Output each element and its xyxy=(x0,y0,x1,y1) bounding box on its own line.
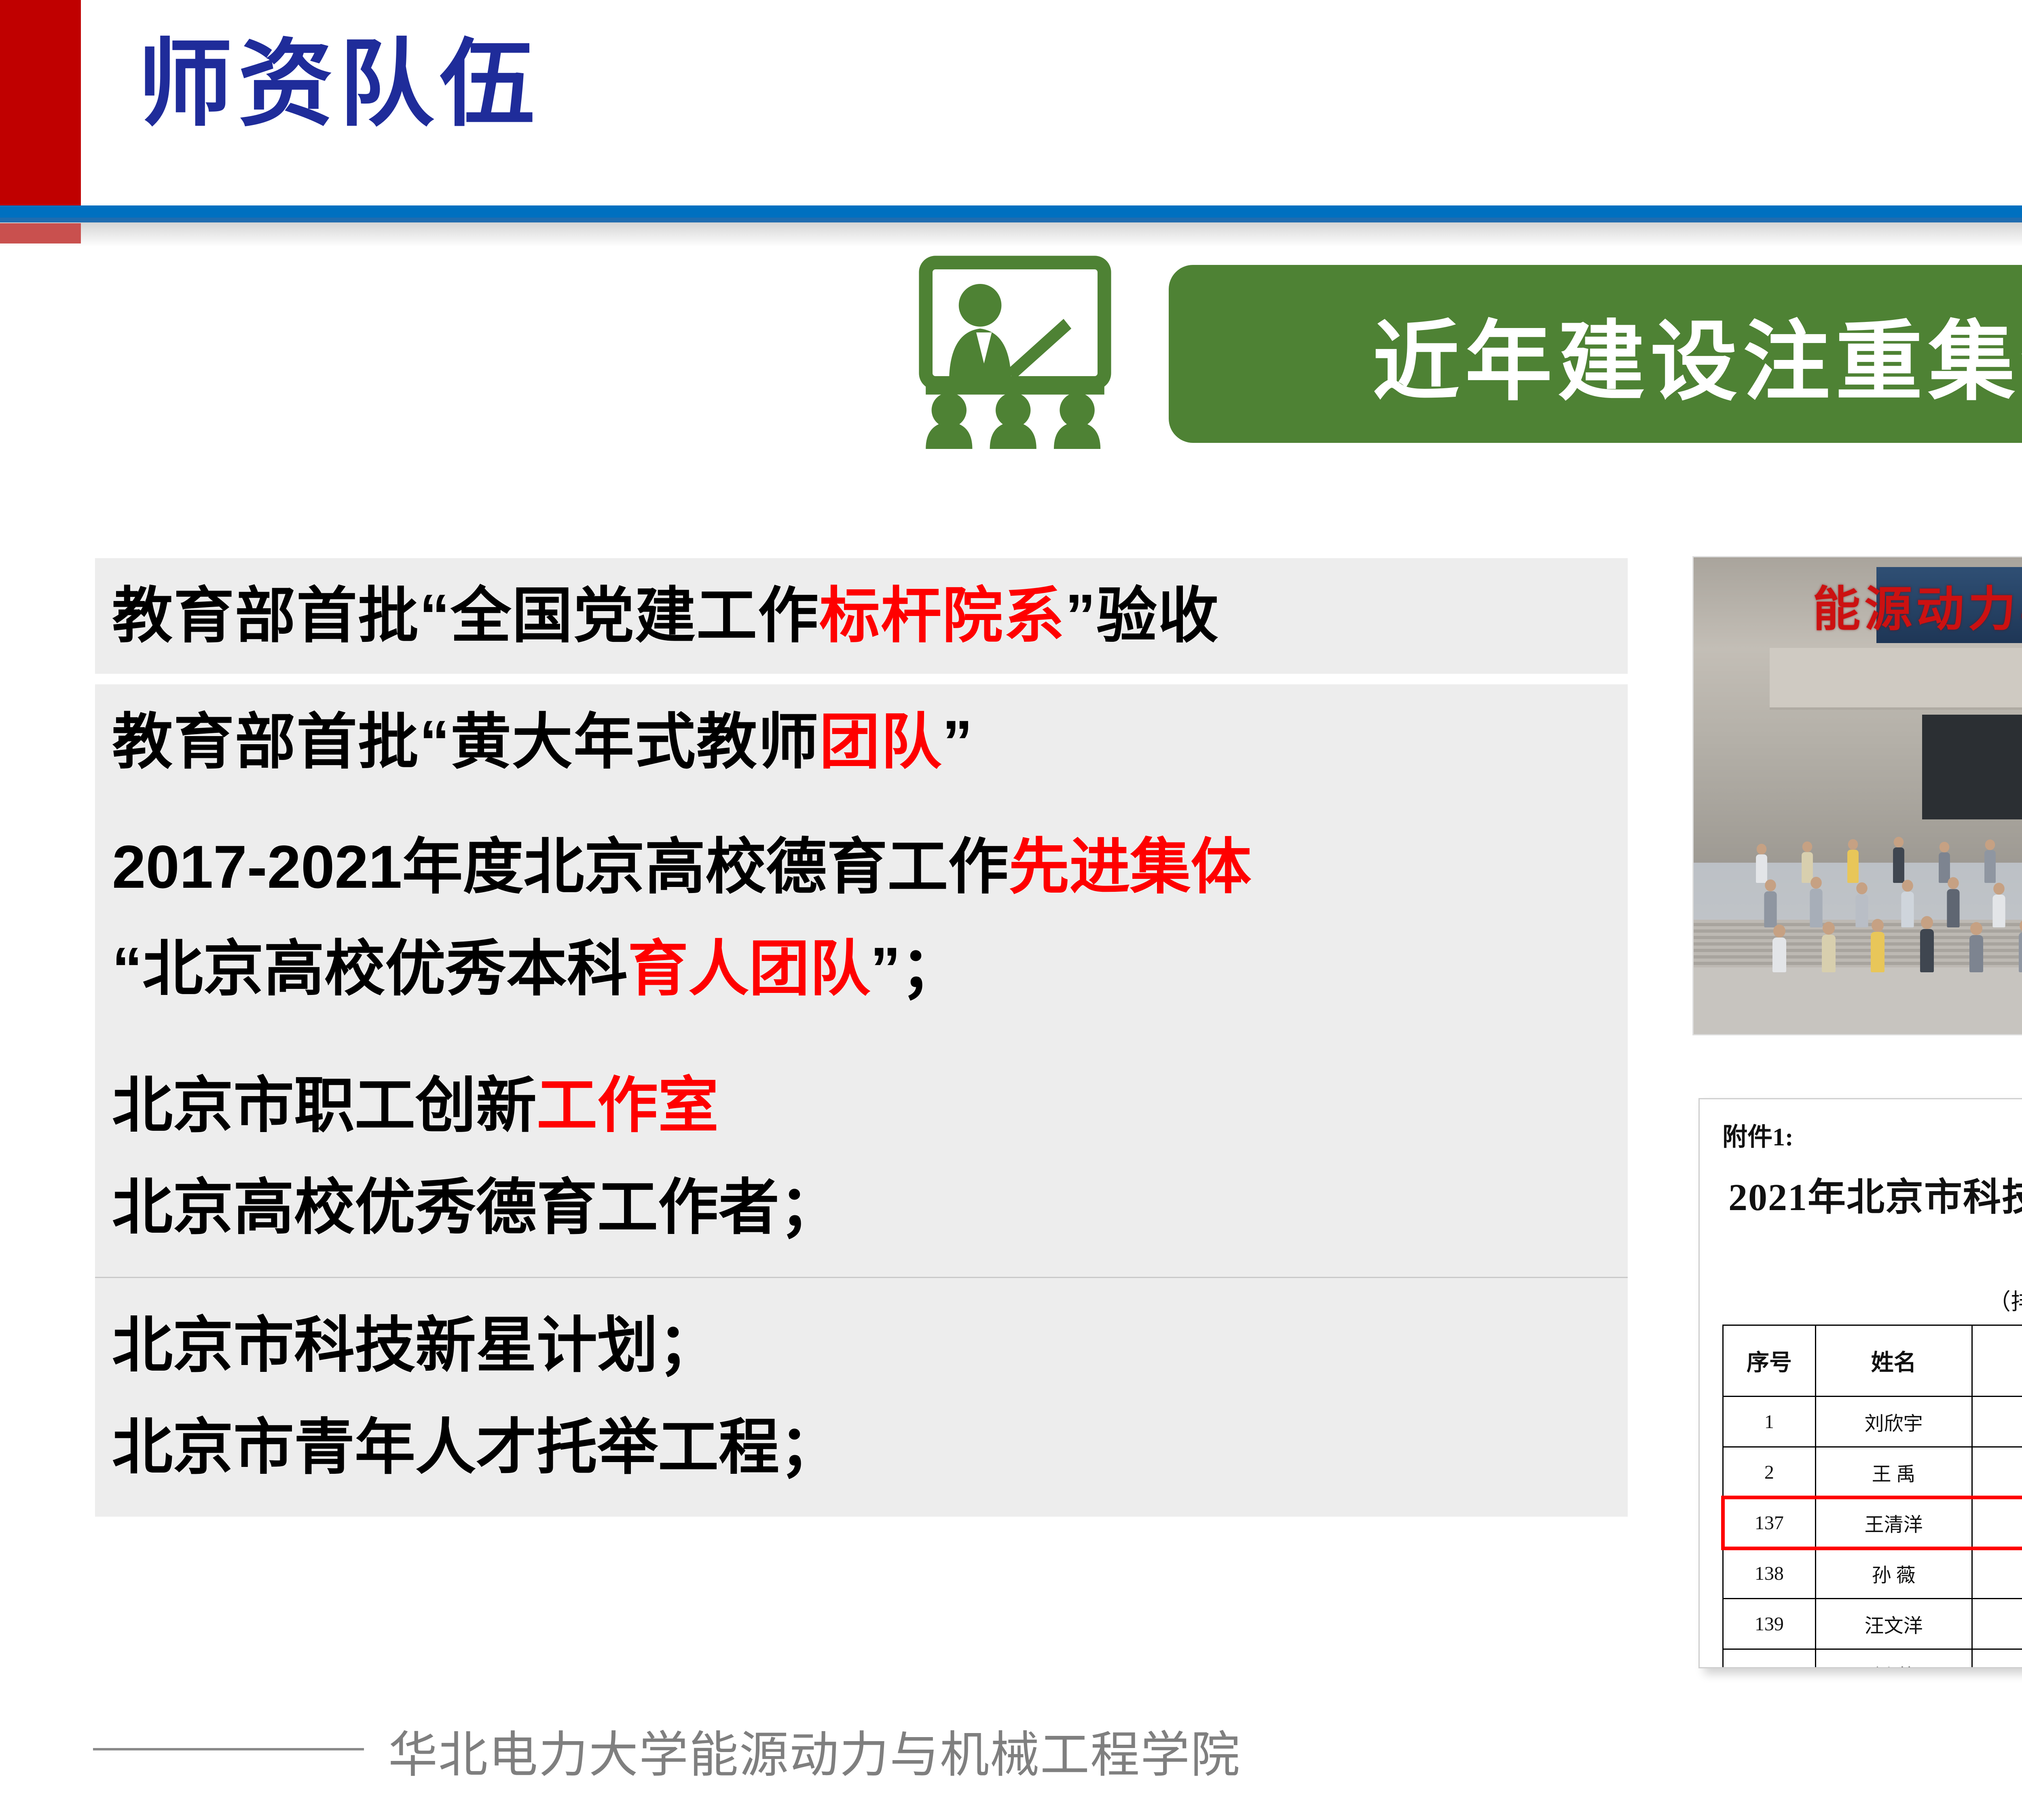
cell-name: 孙 薇 xyxy=(1815,1548,1972,1599)
section-banner: 近年建设注重集体 xyxy=(1169,265,2022,443)
col-header-unit: 工作单位 xyxy=(1972,1325,2022,1397)
doc-title: 2021年北京市科技新星计划拟入选人员名单 xyxy=(1722,1166,2022,1276)
table-header-row: 序号 姓名 工作单位 xyxy=(1723,1325,2022,1397)
row3b-seg2: 育人团队 xyxy=(628,935,870,1003)
header-red-stub xyxy=(0,223,81,243)
row1-seg3: ”验收 xyxy=(1065,582,1219,650)
row4-line1: 北京市职工创新工作室 xyxy=(112,1054,1611,1156)
doc-attachment-label: 附件1: xyxy=(1722,1116,2022,1153)
cell-no: 2 xyxy=(1723,1447,1816,1498)
row3b-seg1: “北京高校优秀本科 xyxy=(112,935,628,1003)
row5-line2: 北京市青年人才托举工程； xyxy=(112,1396,1611,1498)
cell-no: 139 xyxy=(1723,1599,1816,1649)
page-title: 师资队伍 xyxy=(137,36,540,131)
achievement-row-2: 教育部首批“黄大年式教师团队” xyxy=(95,684,1628,800)
cell-name: 王 禹 xyxy=(1815,1447,1972,1498)
slide-root: 师资队伍 1958 华 北 电 力 华北电力大学 NORTH CH xyxy=(0,0,2022,1820)
cell-unit: 北京大学口腔医院 xyxy=(1972,1397,2022,1447)
cell-no: 138 xyxy=(1723,1548,1816,1599)
cell-no: 137 xyxy=(1723,1498,1816,1548)
photo-person xyxy=(1901,880,1914,928)
teacher-classroom-icon xyxy=(894,255,1136,449)
col-header-no: 序号 xyxy=(1723,1325,1816,1397)
achievement-row-5: 北京市科技新星计划； 北京市青年人才托举工程； xyxy=(95,1278,1628,1517)
cell-unit: 北京大学口腔医院 xyxy=(1972,1447,2022,1498)
cell-name: 汪文洋 xyxy=(1815,1599,1972,1649)
photo-person xyxy=(1969,922,1983,972)
photo-ground xyxy=(1694,967,2022,1034)
achievement-list: 教育部首批“全国党建工作标杆院系”验收 教育部首批“黄大年式教师团队” 2017… xyxy=(95,558,1628,1517)
photo-person xyxy=(1871,919,1885,972)
cell-name: 刘 蓁 xyxy=(1815,1649,1972,1669)
header-red-accent-bar xyxy=(0,0,81,206)
row3b-seg3: ”； xyxy=(870,935,961,1003)
photo-person xyxy=(1893,837,1904,883)
header-grey-strip xyxy=(0,222,2022,247)
cell-no: 1 xyxy=(1723,1397,1816,1447)
cell-no: 140 xyxy=(1723,1649,1816,1669)
photo-person xyxy=(1855,882,1868,927)
row3-line1: 2017-2021年度北京高校德育工作先进集体 xyxy=(112,816,1611,918)
row4-line2: 北京高校优秀德育工作者； xyxy=(112,1156,1611,1258)
row2-seg2: 团队 xyxy=(819,708,942,776)
row3-line2: “北京高校优秀本科育人团队”； xyxy=(112,918,1611,1020)
table-row: 1刘欣宇北京大学口腔医院 xyxy=(1723,1397,2022,1447)
nominee-table: 序号 姓名 工作单位 1刘欣宇北京大学口腔医院2王 禹北京大学口腔医院137王清… xyxy=(1722,1325,2022,1668)
cell-unit: 中国华能集团清洁能源技术研究院有限公司 xyxy=(1972,1649,2022,1669)
header-blue-rule-shadow xyxy=(0,218,2022,222)
achievement-row-3: 2017-2021年度北京高校德育工作先进集体 “北京高校优秀本科育人团队”； xyxy=(95,800,1628,1038)
photo-person xyxy=(1920,916,1934,972)
achievement-row-4: 北京市职工创新工作室 北京高校优秀德育工作者； xyxy=(95,1038,1628,1277)
section-banner-label: 近年建设注重集体 xyxy=(1373,291,2022,417)
photo-person xyxy=(1984,840,1996,883)
photo-person xyxy=(1947,877,1959,927)
table-row-highlighted: 137王清洋华北电力大学 xyxy=(1723,1498,2022,1548)
photo-person xyxy=(1822,922,1836,972)
faculty-group-photo: 能源动力与机械工程学院 xyxy=(1692,556,2022,1035)
cell-unit: 中国气象科学研究院 xyxy=(1972,1548,2022,1599)
table-row: 139汪文洋中国科学院地质与地球物理研究所 xyxy=(1723,1599,2022,1649)
photo-person xyxy=(1939,842,1950,883)
row2-seg3: ” xyxy=(942,708,973,776)
row4a-seg1: 北京市职工创新 xyxy=(112,1071,537,1139)
photo-person xyxy=(1992,883,2005,927)
footer-organization: 华北电力大学能源动力与机械工程学院 xyxy=(388,1715,1440,1786)
row4a-seg2: 工作室 xyxy=(537,1071,719,1139)
cell-unit: 华北电力大学 xyxy=(1972,1498,2022,1548)
row2-seg1: 教育部首批“黄大年式教师 xyxy=(112,708,819,776)
cell-name: 王清洋 xyxy=(1815,1498,1972,1548)
col-header-name: 姓名 xyxy=(1815,1325,1972,1397)
photo-people-group xyxy=(1755,800,2022,972)
photo-person xyxy=(1772,925,1786,972)
table-row: 140刘 蓁中国华能集团清洁能源技术研究院有限公司 xyxy=(1723,1649,2022,1669)
photo-building-sign: 能源动力与机械工程学院 xyxy=(1823,574,2022,636)
photo-person xyxy=(1756,844,1767,883)
cell-name: 刘欣宇 xyxy=(1815,1397,1972,1447)
photo-person xyxy=(2019,919,2022,972)
photo-person xyxy=(1810,877,1822,927)
doc-subtitle: （排名不分先后） xyxy=(1722,1284,2022,1316)
scanned-document: 附件1: 2021年北京市科技新星计划拟入选人员名单 （排名不分先后） 序号 姓… xyxy=(1698,1098,2022,1668)
row1-seg2: 标杆院系 xyxy=(819,582,1065,650)
row3a-seg1: 2017-2021年度北京高校德育工作 xyxy=(112,833,1009,901)
row5-line1: 北京市科技新星计划； xyxy=(112,1294,1611,1396)
table-row: 138孙 薇中国气象科学研究院 xyxy=(1723,1548,2022,1599)
photo-person xyxy=(1847,839,1859,883)
achievement-row-1: 教育部首批“全国党建工作标杆院系”验收 xyxy=(95,558,1628,674)
header-blue-rule xyxy=(0,205,2022,218)
footer-rule-left xyxy=(93,1748,364,1750)
cell-unit: 中国科学院地质与地球物理研究所 xyxy=(1972,1599,2022,1649)
photo-canopy xyxy=(1770,648,2022,710)
row3a-seg2: 先进集体 xyxy=(1009,833,1251,901)
photo-person xyxy=(1764,880,1777,928)
row1-seg1: 教育部首批“全国党建工作 xyxy=(112,582,819,650)
table-row: 2王 禹北京大学口腔医院 xyxy=(1723,1447,2022,1498)
